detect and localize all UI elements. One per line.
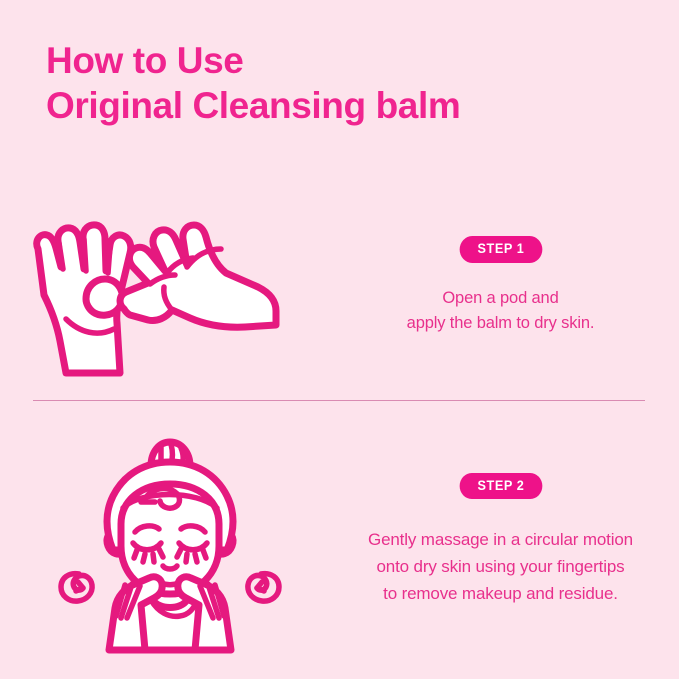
step-1-illustration-cell [0,182,340,390]
step-1-description: Open a pod and apply the balm to dry ski… [407,286,595,336]
hands-applying-balm-illustration [20,191,320,381]
step-2-description-line-1: Gently massage in a circular motion [368,526,633,553]
step-2-description: Gently massage in a circular motion onto… [368,526,633,607]
page-title-line-2: Original Cleansing balm [46,83,646,128]
balm-blob [86,279,122,315]
step-2-description-line-3: to remove makeup and residue. [368,580,633,607]
swirl-left-icon [61,573,92,600]
nose [163,566,177,569]
step-2-illustration-cell [0,420,340,660]
step-1-badge: STEP 1 [459,236,542,263]
step-1-text-cell: STEP 1 Open a pod and apply the balm to … [340,182,679,390]
page-title: How to Use Original Cleansing balm [46,38,646,128]
woman-massaging-face-illustration [45,428,295,653]
swirl-right-icon [248,573,279,600]
step-1-description-line-1: Open a pod and [407,286,595,311]
step-2-section: STEP 2 Gently massage in a circular moti… [0,420,679,660]
page-title-line-1: How to Use [46,38,646,83]
step-1-section: STEP 1 Open a pod and apply the balm to … [0,182,679,390]
step-2-badge: STEP 2 [459,473,542,500]
section-divider [33,400,645,401]
step-1-description-line-2: apply the balm to dry skin. [407,311,595,336]
pinching-hand [120,225,276,327]
step-2-text-cell: STEP 2 Gently massage in a circular moti… [340,420,679,660]
step-2-description-line-2: onto dry skin using your fingertips [368,553,633,580]
